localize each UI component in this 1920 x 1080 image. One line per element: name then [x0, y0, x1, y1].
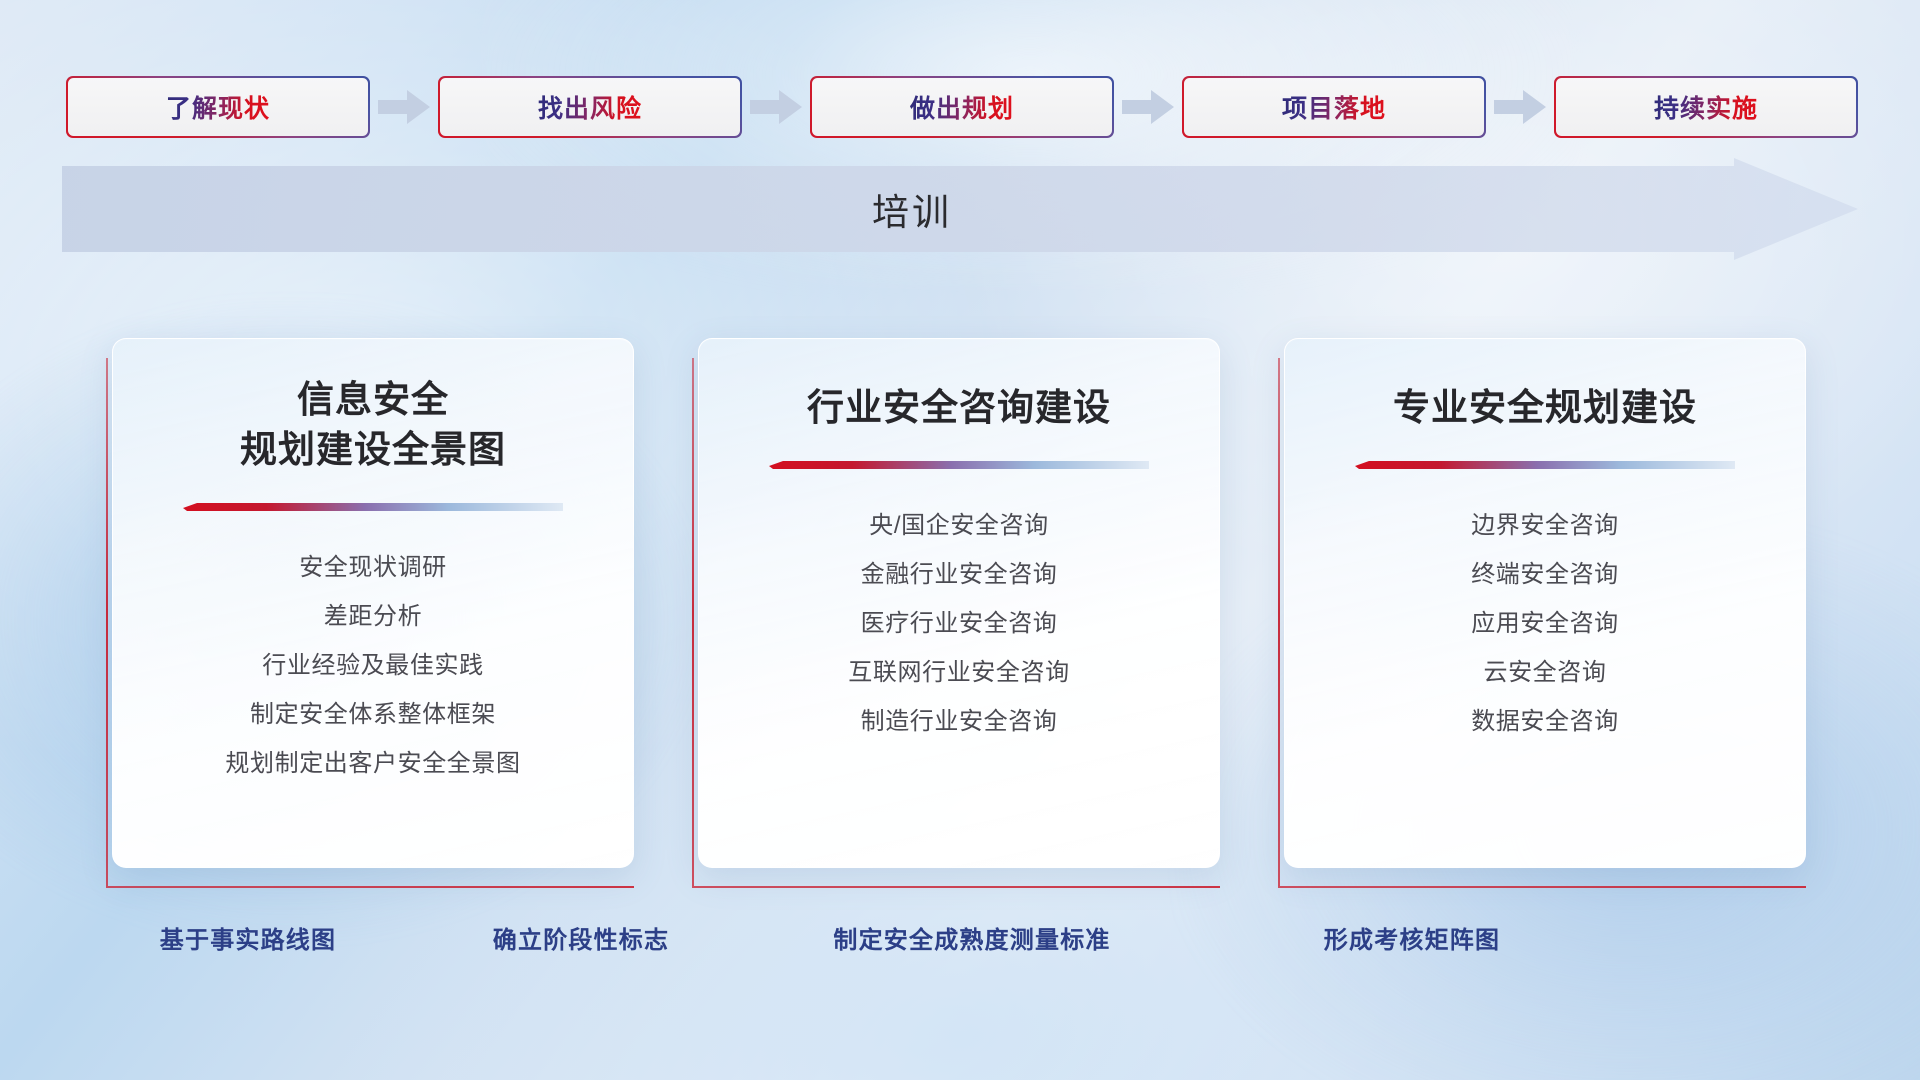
- card-title-2-line1: 行业安全咨询建设: [807, 383, 1111, 433]
- card-wrapper-1: 信息安全 规划建设全景图: [112, 338, 634, 878]
- list-item: 行业经验及最佳实践: [262, 648, 483, 684]
- footer-label-2: 确立阶段性标志: [493, 920, 669, 955]
- list-item: 终端安全咨询: [1471, 557, 1619, 593]
- card-divider-1: [183, 503, 563, 516]
- card-1[interactable]: 信息安全 规划建设全景图: [112, 338, 634, 868]
- list-item: 云安全咨询: [1483, 655, 1606, 691]
- training-banner-label: 培训: [62, 158, 1762, 260]
- step-box-3-inner: 做出规划: [812, 78, 1113, 137]
- card-title-2: 行业安全咨询建设: [807, 383, 1111, 433]
- card-divider-3: [1355, 461, 1735, 474]
- step-label-1: 了解现状: [166, 89, 270, 125]
- card-title-3: 专业安全规划建设: [1393, 383, 1697, 433]
- arrow-right-icon: [1114, 90, 1182, 124]
- list-item: 规划制定出客户安全全景图: [225, 746, 520, 782]
- process-step-row: 了解现状 找出风险 做出规划: [66, 76, 1854, 138]
- list-item: 制造行业安全咨询: [861, 704, 1058, 740]
- step-box-1[interactable]: 了解现状: [66, 76, 370, 138]
- step-box-4-inner: 项目落地: [1184, 78, 1485, 137]
- card-wrapper-3: 专业安全规划建设: [1284, 338, 1806, 878]
- card-list-2: 央/国企安全咨询 金融行业安全咨询 医疗行业安全咨询 互联网行业安全咨询 制造行…: [848, 508, 1069, 740]
- card-row: 信息安全 规划建设全景图: [112, 338, 1812, 878]
- step-box-5-inner: 持续实施: [1556, 78, 1857, 137]
- step-label-5: 持续实施: [1654, 89, 1758, 125]
- footer-label-4: 形成考核矩阵图: [1324, 920, 1500, 955]
- card-3[interactable]: 专业安全规划建设: [1284, 338, 1806, 868]
- list-item: 金融行业安全咨询: [861, 557, 1058, 593]
- step-label-4: 项目落地: [1282, 89, 1386, 125]
- list-item: 制定安全体系整体框架: [250, 697, 496, 733]
- list-item: 互联网行业安全咨询: [848, 655, 1069, 691]
- list-item: 安全现状调研: [299, 550, 447, 586]
- card-list-1: 安全现状调研 差距分析 行业经验及最佳实践 制定安全体系整体框架 规划制定出客户…: [225, 550, 520, 782]
- step-box-5[interactable]: 持续实施: [1554, 76, 1858, 138]
- step-box-4[interactable]: 项目落地: [1182, 76, 1486, 138]
- card-wrapper-2: 行业安全咨询建设: [698, 338, 1220, 878]
- arrow-right-icon: [742, 90, 810, 124]
- step-box-1-inner: 了解现状: [68, 78, 369, 137]
- card-title-3-line1: 专业安全规划建设: [1393, 383, 1697, 433]
- step-label-2: 找出风险: [538, 89, 642, 125]
- training-banner: 培训: [62, 158, 1858, 260]
- list-item: 数据安全咨询: [1471, 704, 1619, 740]
- card-title-1-line2: 规划建设全景图: [240, 425, 506, 475]
- list-item: 边界安全咨询: [1471, 508, 1619, 544]
- card-divider-2: [769, 461, 1149, 474]
- step-box-3[interactable]: 做出规划: [810, 76, 1114, 138]
- card-list-3: 边界安全咨询 终端安全咨询 应用安全咨询 云安全咨询 数据安全咨询: [1471, 508, 1619, 740]
- card-title-1: 信息安全 规划建设全景图: [240, 375, 506, 475]
- step-box-2[interactable]: 找出风险: [438, 76, 742, 138]
- step-box-2-inner: 找出风险: [440, 78, 741, 137]
- footer-label-1: 基于事实路线图: [160, 920, 336, 955]
- list-item: 差距分析: [324, 599, 422, 635]
- arrow-right-icon: [370, 90, 438, 124]
- footer-label-row: 基于事实路线图 确立阶段性标志 制定安全成熟度测量标准 形成考核矩阵图: [0, 920, 1920, 968]
- footer-label-3: 制定安全成熟度测量标准: [833, 920, 1110, 955]
- list-item: 央/国企安全咨询: [869, 508, 1048, 544]
- card-2[interactable]: 行业安全咨询建设: [698, 338, 1220, 868]
- list-item: 应用安全咨询: [1471, 606, 1619, 642]
- step-label-3: 做出规划: [910, 89, 1014, 125]
- arrow-right-icon: [1486, 90, 1554, 124]
- card-title-1-line1: 信息安全: [240, 375, 506, 425]
- slide-canvas: 了解现状 找出风险 做出规划: [0, 0, 1920, 1080]
- list-item: 医疗行业安全咨询: [861, 606, 1058, 642]
